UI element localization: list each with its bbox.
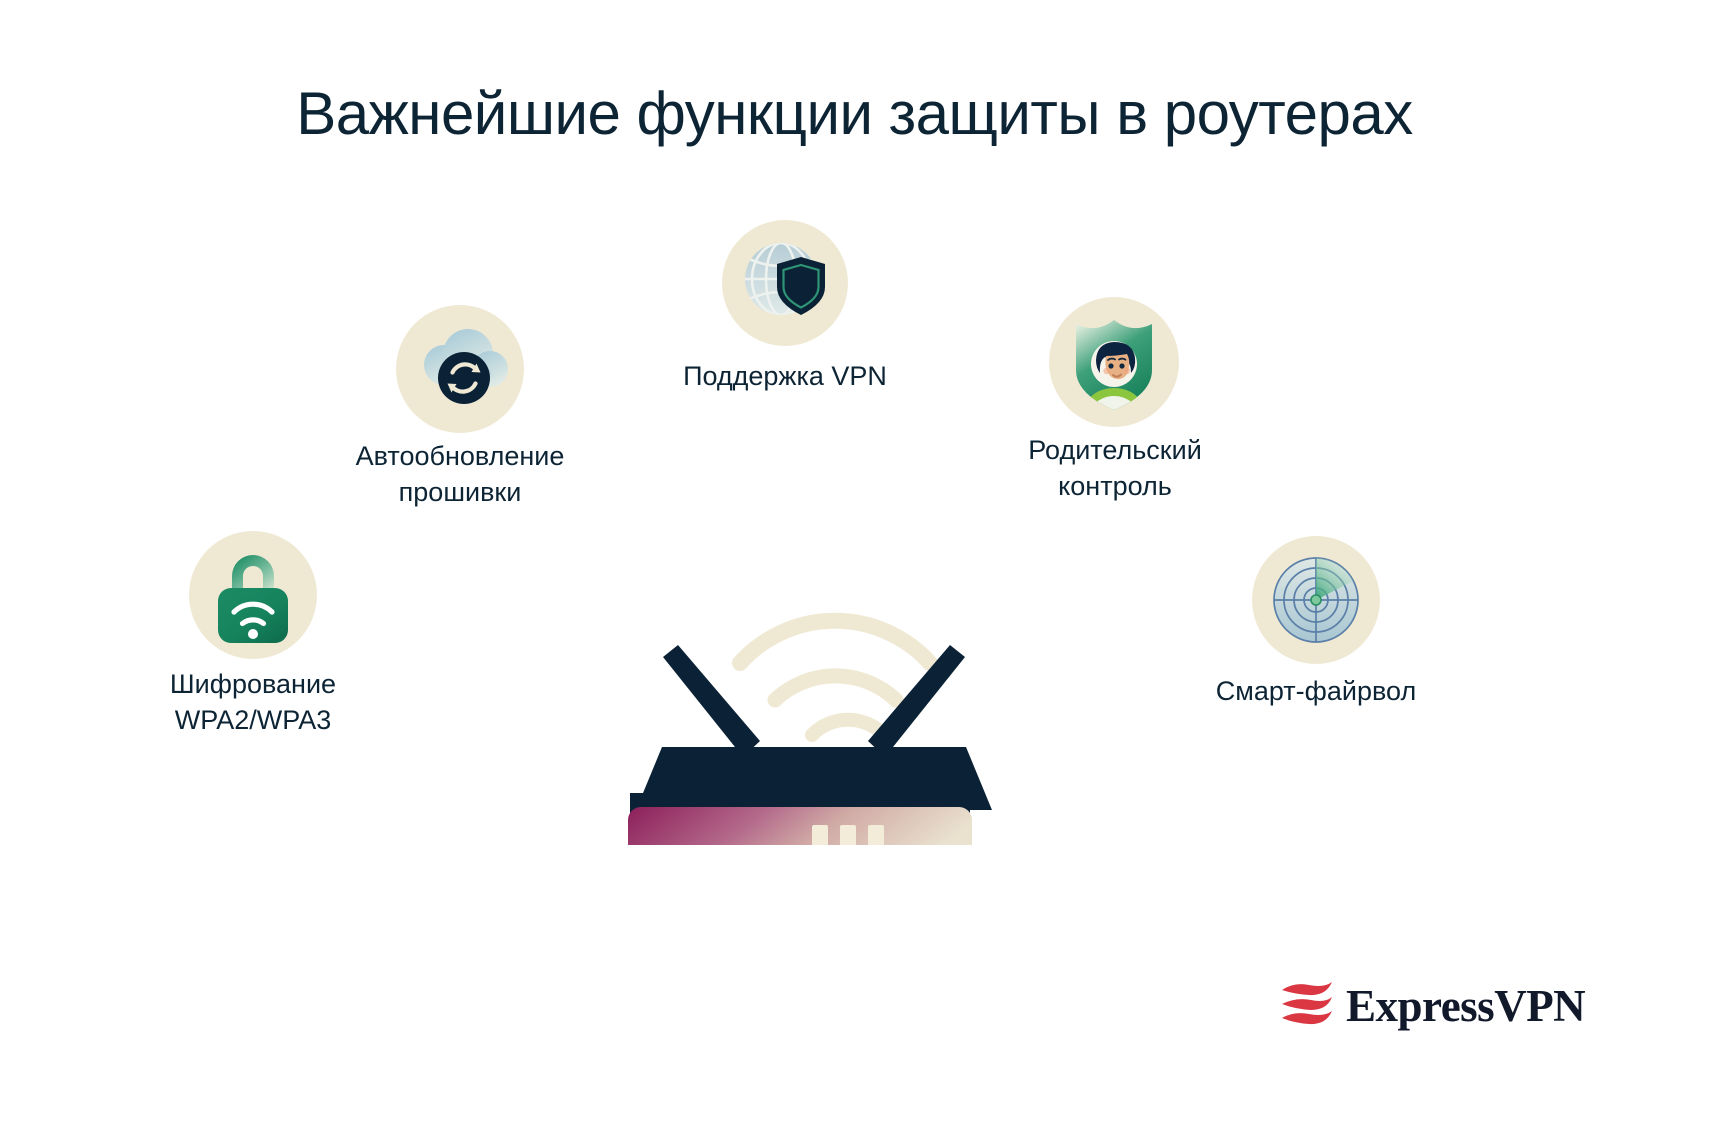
feature-parental-label: Родительский контроль bbox=[940, 432, 1290, 504]
wifi-router-illustration bbox=[600, 545, 1000, 845]
feature-vpn-label: Поддержка VPN bbox=[610, 358, 960, 394]
radar-icon bbox=[1266, 550, 1366, 650]
feature-firewall-badge bbox=[1252, 536, 1380, 664]
infographic-canvas: Важнейшие функции защиты в роутерах bbox=[0, 0, 1709, 1121]
globe-shield-icon bbox=[733, 231, 837, 335]
expressvpn-logo-icon bbox=[1278, 978, 1336, 1035]
feature-firmware-label: Автообновление прошивки bbox=[285, 438, 635, 510]
padlock-wifi-icon bbox=[205, 545, 301, 645]
feature-vpn-badge bbox=[722, 220, 848, 346]
cloud-refresh-icon bbox=[406, 321, 514, 417]
feature-encryption-label: Шифрование WPA2/WPA3 bbox=[78, 666, 428, 738]
feature-parental-badge bbox=[1049, 297, 1179, 427]
page-title: Важнейшие функции защиты в роутерах bbox=[0, 78, 1709, 150]
brand-wordmark: ExpressVPN bbox=[1346, 982, 1585, 1030]
feature-firmware-badge bbox=[396, 305, 524, 433]
feature-firewall-label: Смарт-файрвол bbox=[1141, 673, 1491, 709]
expressvpn-brand: ExpressVPN bbox=[1278, 975, 1578, 1037]
shield-child-icon bbox=[1068, 312, 1160, 412]
feature-encryption-badge bbox=[189, 531, 317, 659]
